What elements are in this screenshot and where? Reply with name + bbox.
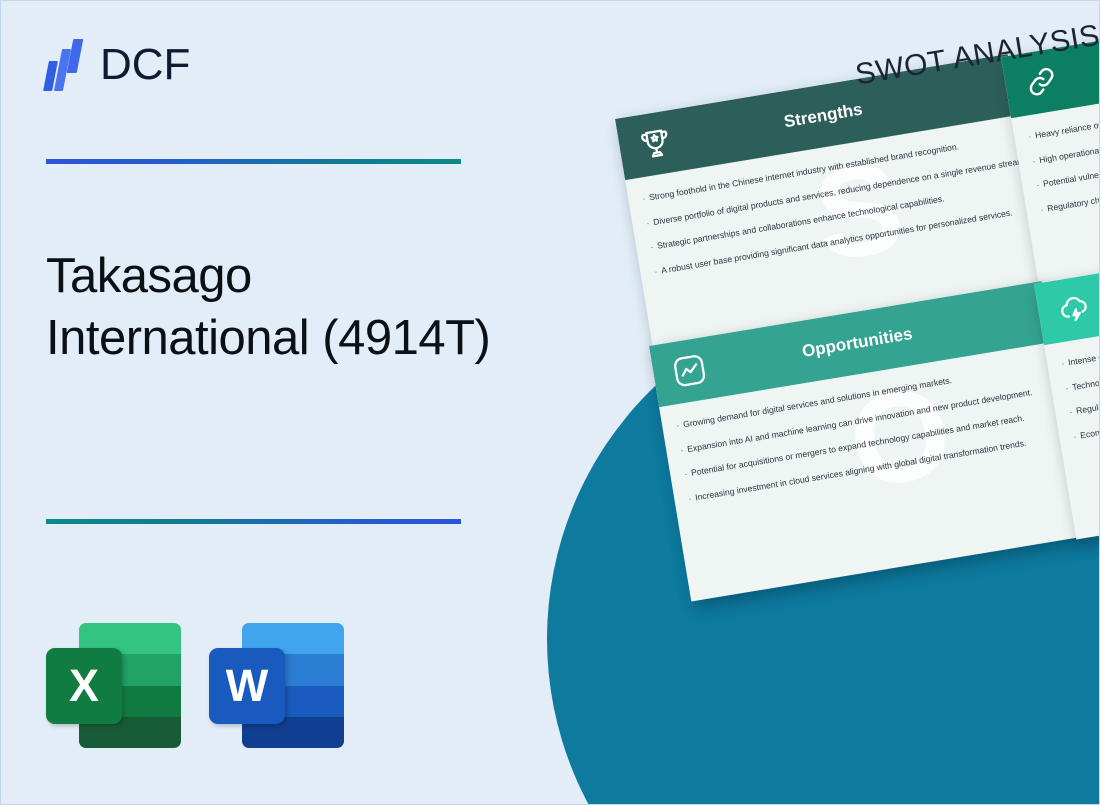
excel-badge-label: X	[46, 648, 122, 724]
link-chain-icon	[1019, 59, 1065, 105]
divider-top	[46, 159, 461, 164]
divider-bottom	[46, 519, 461, 524]
page-title: Takasago International (4914T)	[46, 246, 496, 369]
brand-logo[interactable]: DCF	[46, 39, 190, 91]
trend-pulse-icon	[667, 348, 713, 394]
brand-logo-text: DCF	[100, 43, 190, 87]
excel-file-icon[interactable]: X	[46, 623, 181, 748]
word-badge-label: W	[209, 648, 285, 724]
swot-analysis-page: SWOT ANALYSIS DCF Takasago International…	[0, 0, 1100, 805]
trophy-icon	[633, 121, 679, 167]
storm-cloud-icon	[1052, 286, 1098, 332]
left-info-panel: DCF Takasago International (4914T) X W	[1, 1, 561, 805]
dcf-bars-logo-icon	[46, 39, 88, 91]
word-file-icon[interactable]: W	[209, 623, 344, 748]
download-icons: X W	[46, 623, 344, 748]
